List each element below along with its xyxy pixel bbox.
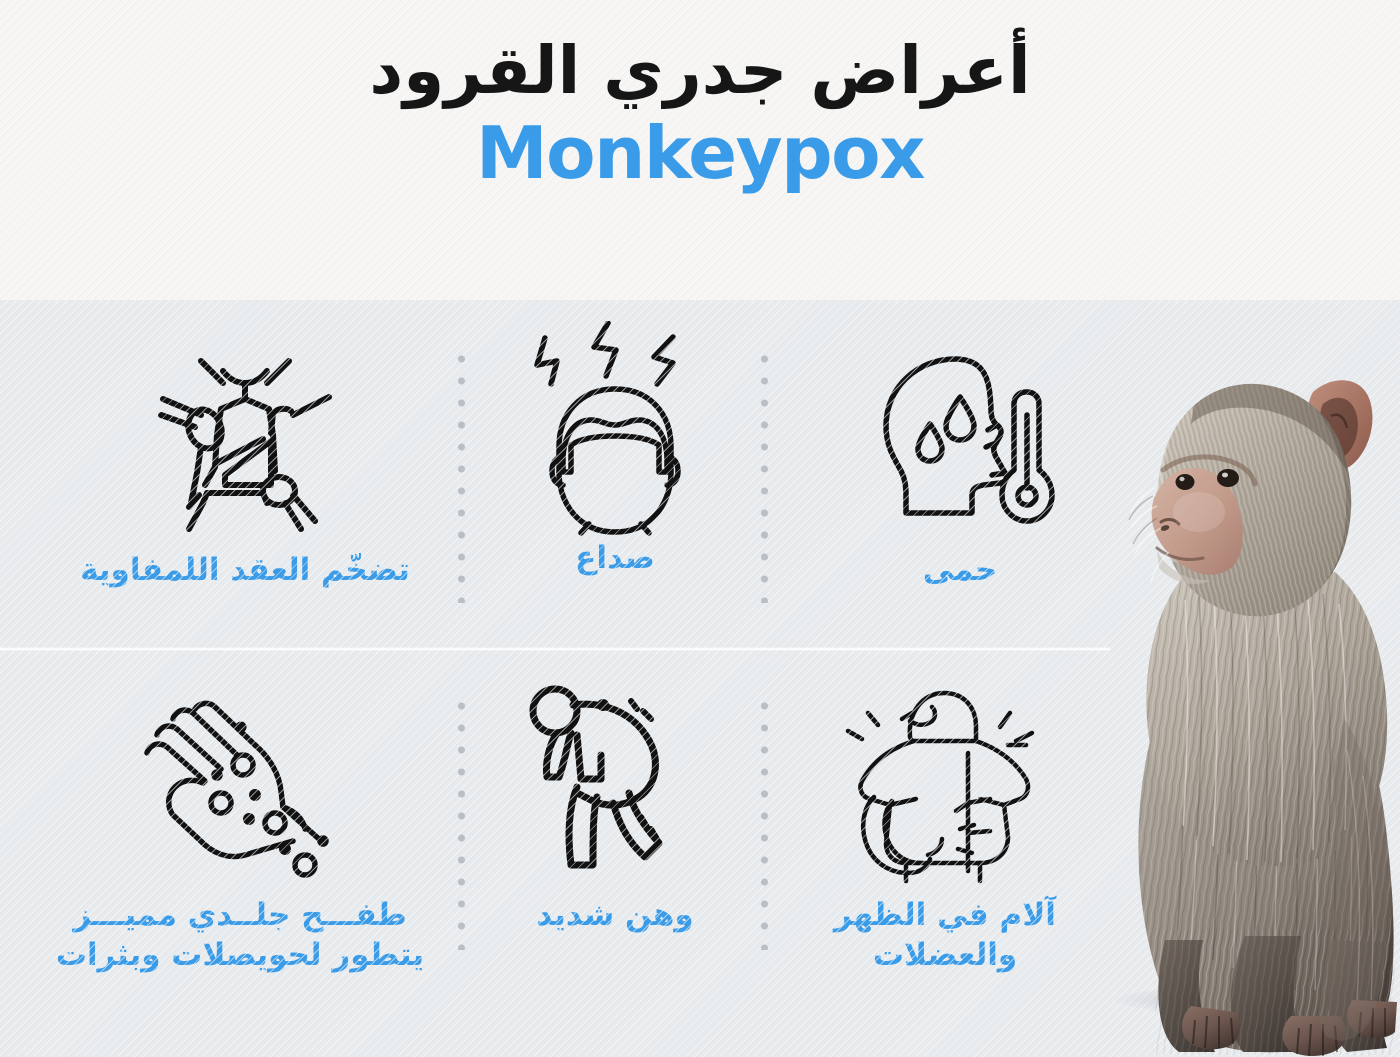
monkey-macaque-photo xyxy=(1095,300,1400,1057)
column-divider-4 xyxy=(760,695,769,950)
column-divider-3 xyxy=(457,695,466,950)
person-back-pain-icon xyxy=(840,685,1050,885)
page-title-english: Monkeypox xyxy=(476,116,924,192)
column-divider-2 xyxy=(760,348,769,603)
symptom-label-back-pain: آلام في الظهر والعضلات xyxy=(760,895,1130,976)
symptom-label-weakness: وهن شديد xyxy=(430,895,800,935)
symptom-cell-lymph-nodes[interactable]: تضخّم العقد اللمفاوية xyxy=(60,340,430,590)
row-divider xyxy=(0,647,1110,651)
symptom-label-back-pain-line2: والعضلات xyxy=(760,935,1130,975)
header-banner: أعراض جدري القرود Monkeypox xyxy=(0,0,1400,300)
symptom-label-back-pain-line1: آلام في الظهر xyxy=(834,897,1056,933)
infographic-root: أعراض جدري القرود Monkeypox xyxy=(0,0,1400,1057)
hand-with-spots-rash-icon xyxy=(133,685,348,885)
head-sweat-thermometer-icon xyxy=(860,340,1060,540)
symptom-cell-headache[interactable]: صداع xyxy=(430,328,800,578)
symptom-label-rash: طفـــح جلــدي مميـــز يتطور لحويصلات وبث… xyxy=(55,895,425,976)
page-title-arabic: أعراض جدري القرود xyxy=(369,34,1030,108)
symptom-cell-fever[interactable]: حمى xyxy=(775,340,1145,590)
column-divider-1 xyxy=(457,348,466,603)
symptom-cell-weakness[interactable]: وهن شديد xyxy=(430,685,800,935)
head-lightning-bolts-icon xyxy=(515,328,715,528)
symptom-label-rash-line1: طفـــح جلــدي مميـــز xyxy=(73,897,406,933)
symptom-label-lymph-nodes: تضخّم العقد اللمفاوية xyxy=(60,550,430,590)
lymph-node-network-icon xyxy=(145,340,345,540)
symptom-label-rash-line2: يتطور لحويصلات وبثرات xyxy=(55,935,425,975)
symptom-label-fever: حمى xyxy=(775,550,1145,590)
hunched-exhausted-person-icon xyxy=(515,685,715,885)
symptom-label-headache: صداع xyxy=(430,538,800,578)
symptom-cell-back-pain[interactable]: آلام في الظهر والعضلات xyxy=(760,685,1130,976)
symptom-cell-rash[interactable]: طفـــح جلــدي مميـــز يتطور لحويصلات وبث… xyxy=(55,685,425,976)
